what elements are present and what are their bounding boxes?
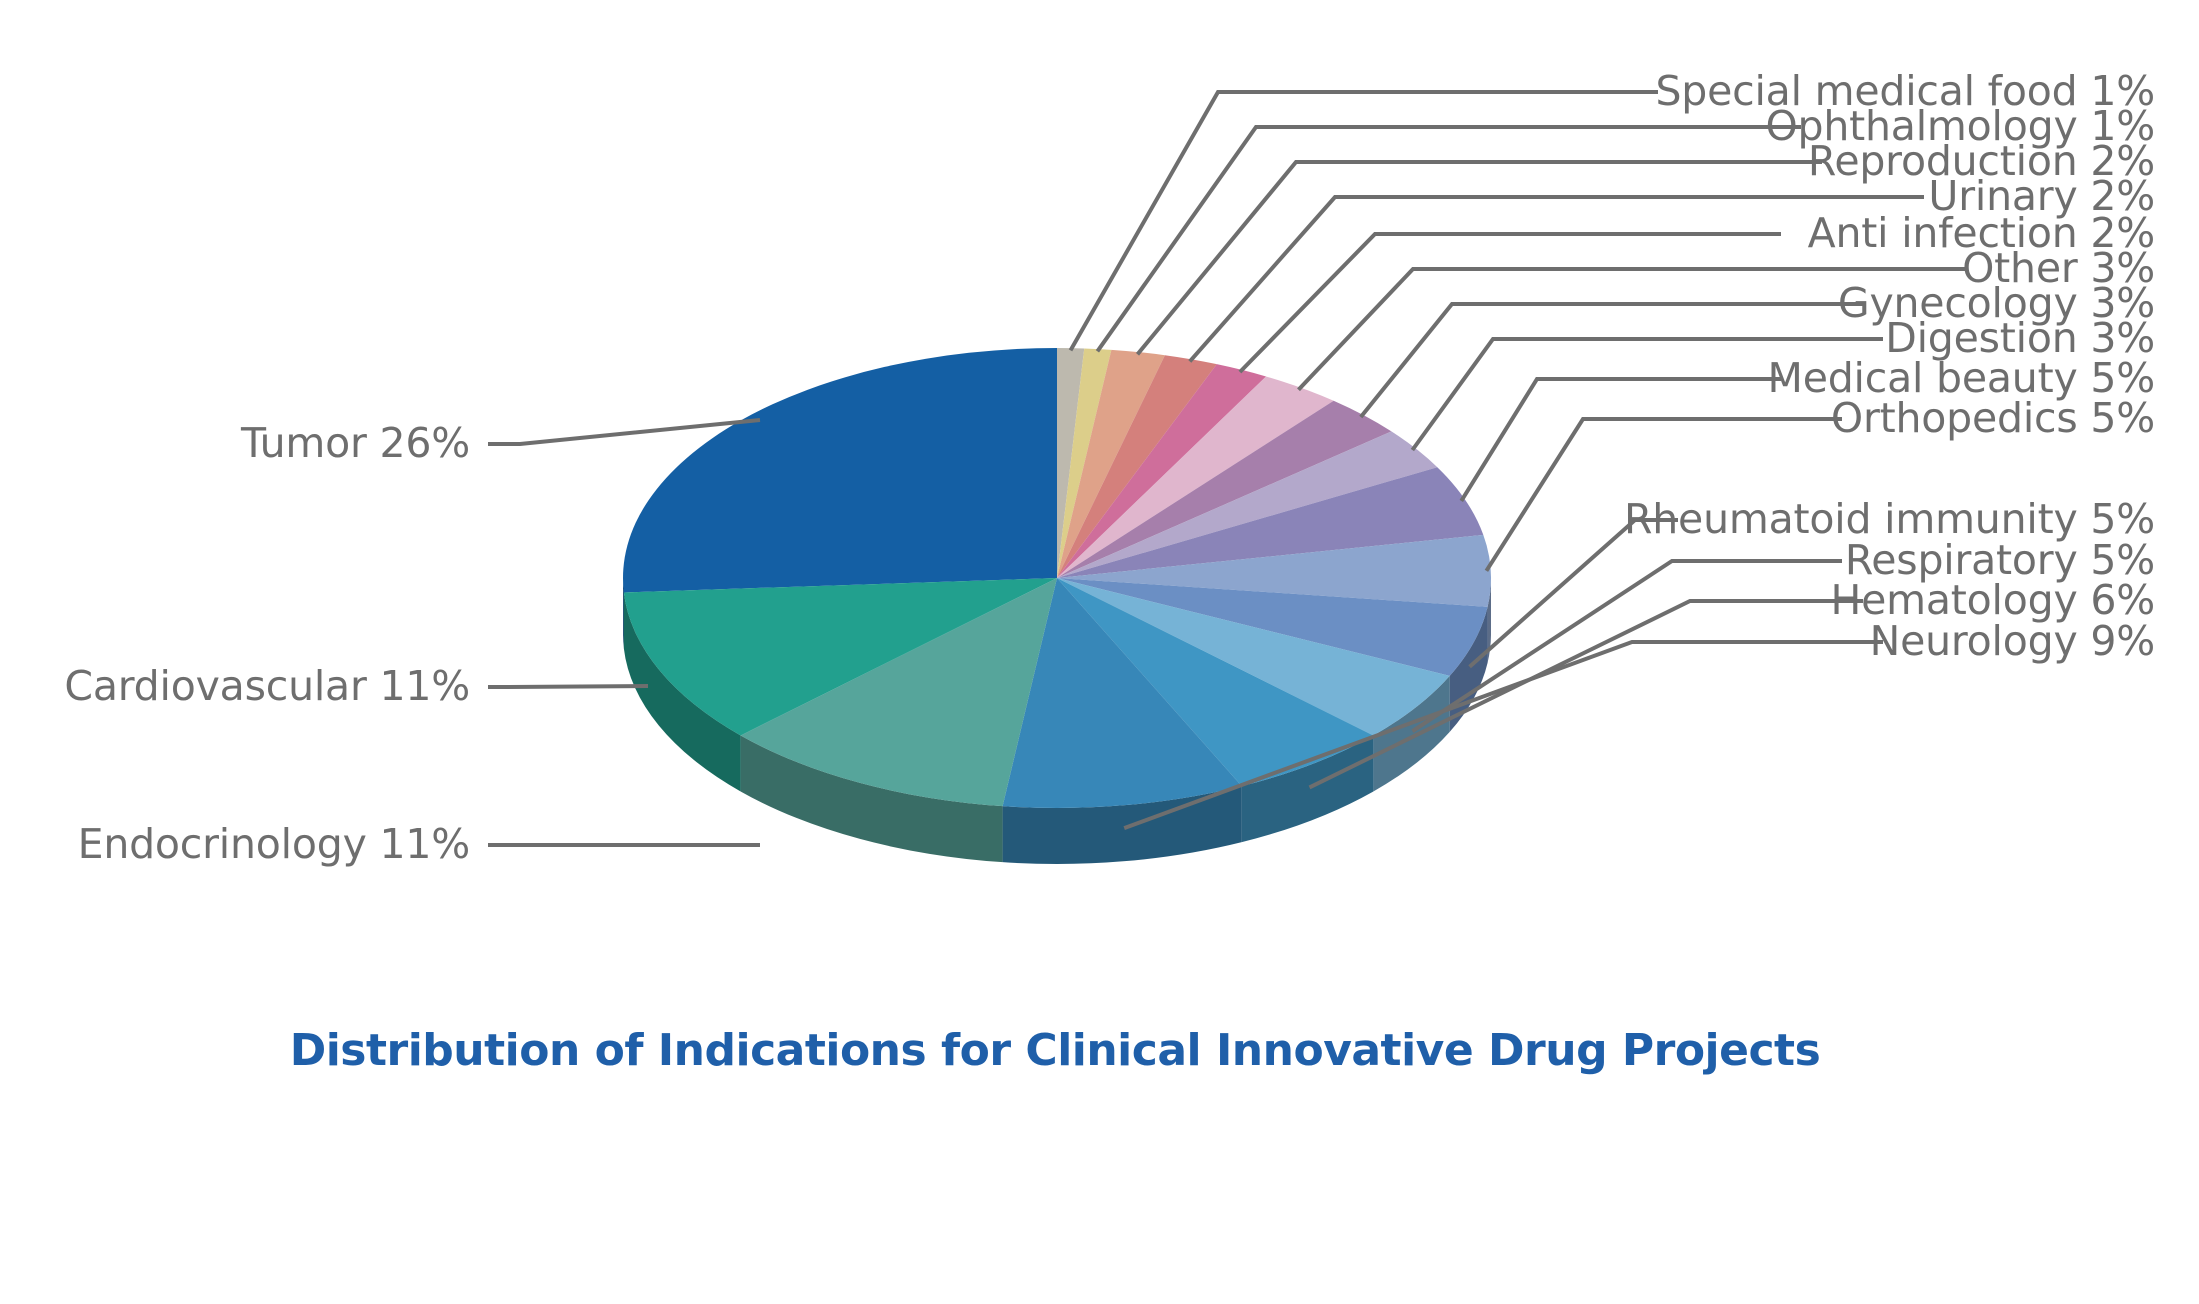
label-cardiovascular: Cardiovascular 11%	[64, 662, 470, 710]
pie-chart-figure: Tumor 26%Special medical food 1%Ophthalm…	[0, 0, 2199, 1304]
label-endocrinology: Endocrinology 11%	[78, 820, 470, 868]
label-orthopedics: Orthopedics 5%	[1831, 394, 2155, 442]
chart-title: Distribution of Indications for Clinical…	[290, 1025, 1821, 1076]
label-neurology: Neurology 9%	[1870, 617, 2155, 665]
label-tumor: Tumor 26%	[240, 419, 470, 467]
leader-line-cardiovascular	[488, 686, 648, 687]
leader-line-reproduction	[1138, 162, 1823, 354]
pie-slice-tumor[interactable]: Tumor 26%	[623, 348, 1057, 592]
pie-chart-page: Tumor 26%Special medical food 1%Ophthalm…	[0, 0, 2199, 1304]
leader-line-medical-beauty	[1461, 379, 1781, 501]
leader-line-special-medical-food	[1071, 92, 1659, 350]
